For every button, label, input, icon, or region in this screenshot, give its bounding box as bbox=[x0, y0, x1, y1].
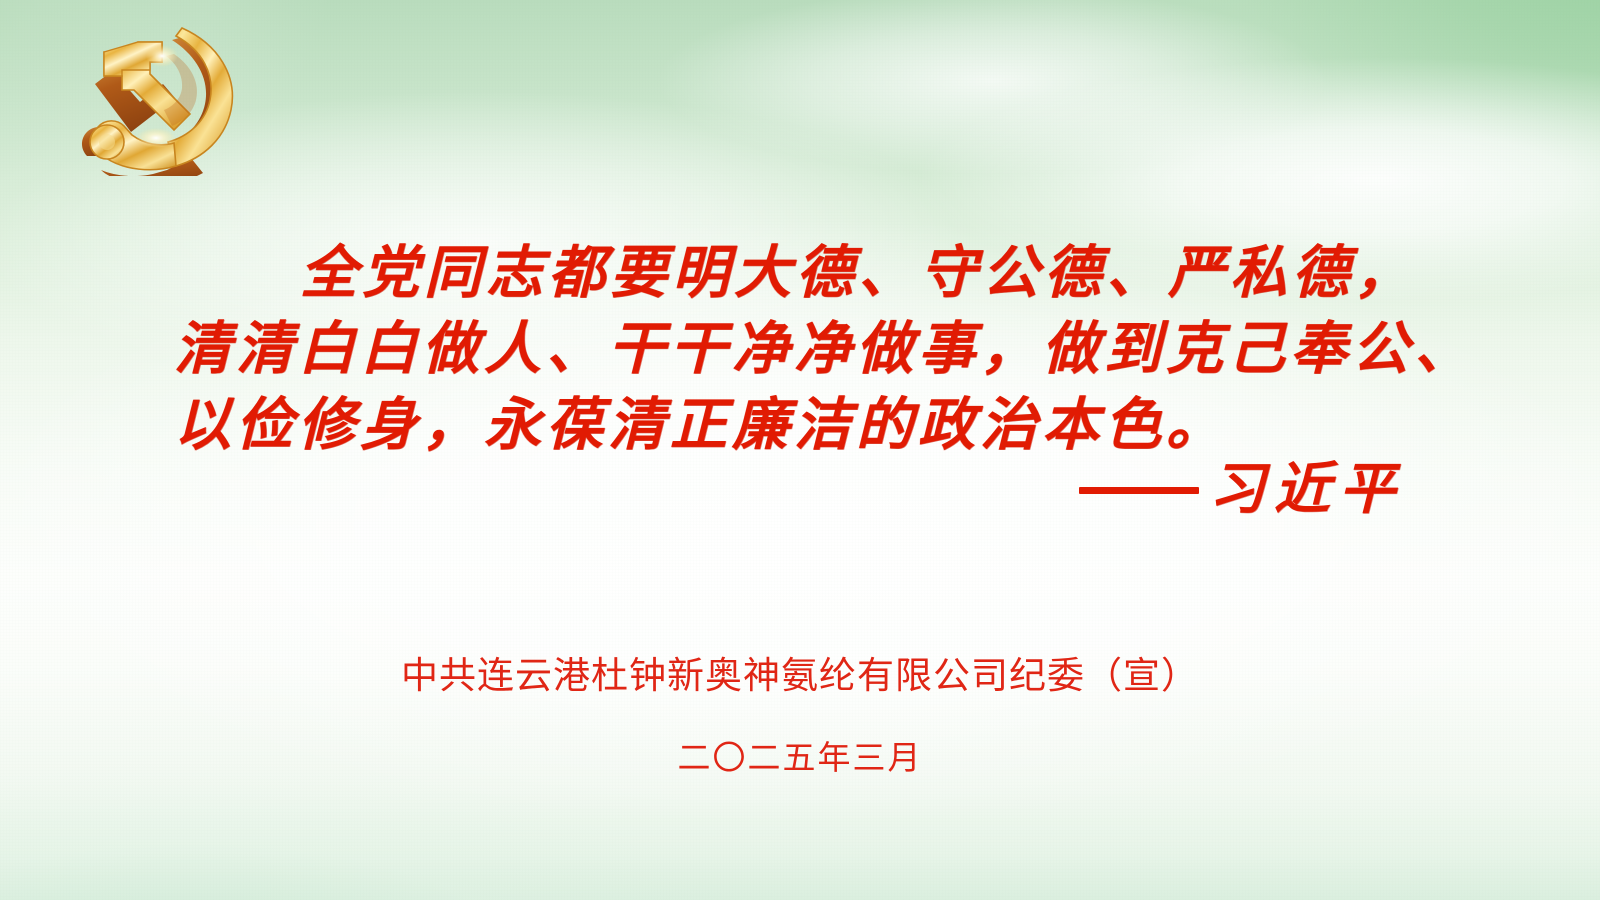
footer-organization: 中共连云港杜钟新奥神氨纶有限公司纪委（宣） bbox=[0, 650, 1600, 702]
attribution-dash-rule bbox=[1079, 487, 1199, 494]
quote-attribution: 习近平 bbox=[0, 458, 1600, 522]
cpc-emblem-icon bbox=[78, 18, 264, 176]
quote-line-3: 以俭修身，永葆清正廉洁的政治本色。 bbox=[0, 388, 1600, 464]
attribution-author-name: 习近平 bbox=[1209, 458, 1404, 522]
footer-block: 中共连云港杜钟新奥神氨纶有限公司纪委（宣） 二〇二五年三月 bbox=[0, 650, 1600, 781]
footer-date: 二〇二五年三月 bbox=[0, 735, 1600, 781]
quote-line-2: 清清白白做人、干干净净做事，做到克己奉公、 bbox=[0, 312, 1600, 388]
quote-line-1: 全党同志都要明大德、守公德、严私德， bbox=[0, 236, 1600, 312]
quote-block: 全党同志都要明大德、守公德、严私德， 清清白白做人、干干净净做事，做到克己奉公、… bbox=[0, 236, 1600, 464]
poster-canvas: 全党同志都要明大德、守公德、严私德， 清清白白做人、干干净净做事，做到克己奉公、… bbox=[0, 0, 1600, 900]
